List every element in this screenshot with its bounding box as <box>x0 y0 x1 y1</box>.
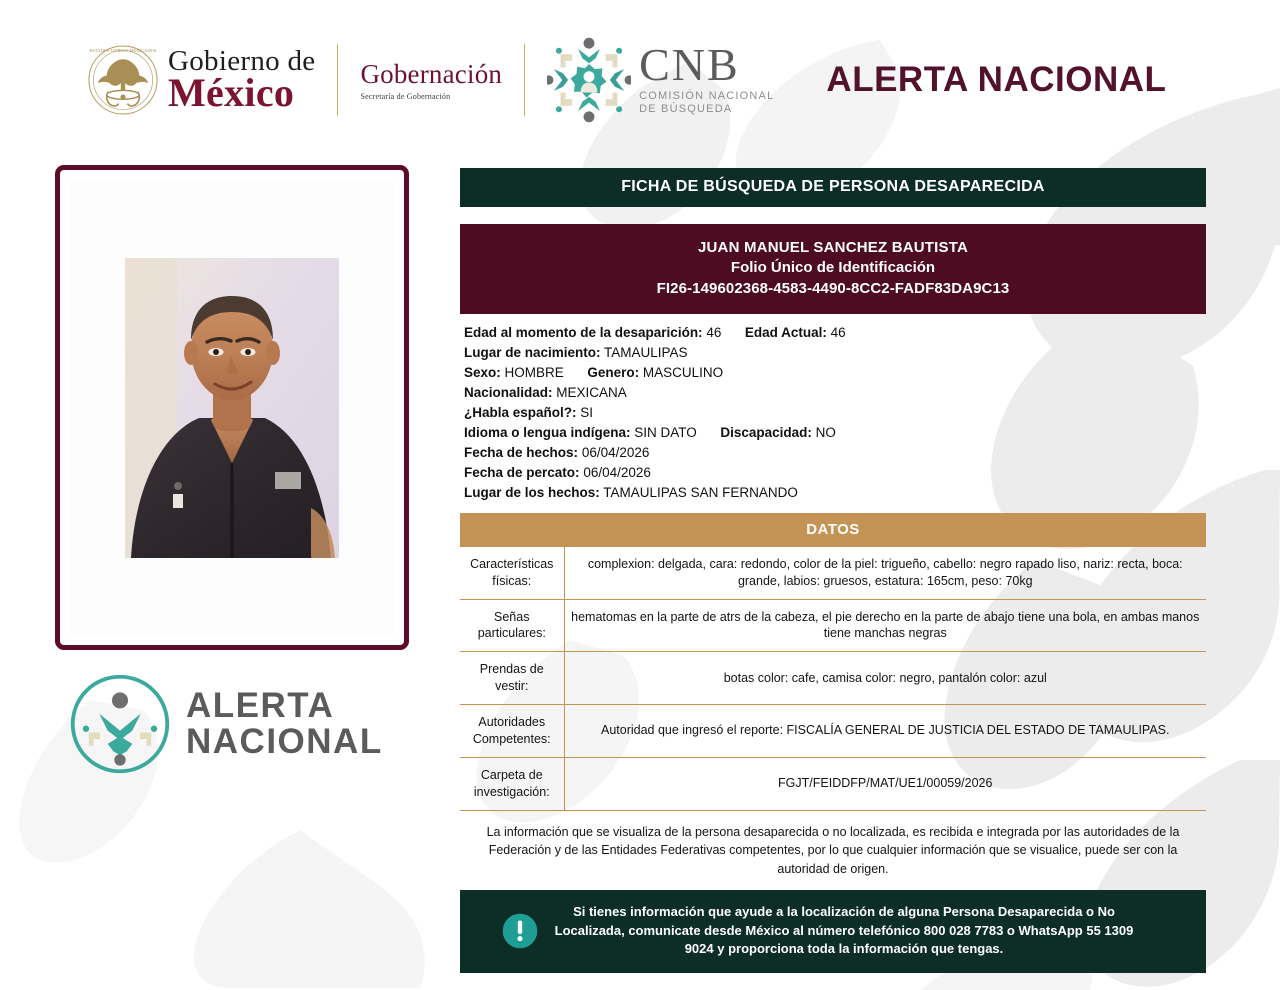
row-value: botas color: cafe, camisa color: negro, … <box>564 652 1206 705</box>
header-divider-2 <box>524 44 525 116</box>
edad-actual-label: Edad Actual: <box>745 325 827 340</box>
svg-text:ESTADOS UNIDOS MEXICANOS: ESTADOS UNIDOS MEXICANOS <box>89 48 156 53</box>
row-value: Autoridad que ingresó el reporte: FISCAL… <box>564 705 1206 758</box>
field-habla-espanol: ¿Habla español?: SI <box>464 403 1206 423</box>
lugar-hechos-value: TAMAULIPAS SAN FERNANDO <box>603 485 798 500</box>
alerta-nacional-emblem-icon <box>68 672 172 776</box>
person-identity-block: JUAN MANUEL SANCHEZ BAUTISTA Folio Único… <box>460 224 1206 314</box>
field-edad: Edad al momento de la desaparición: 46 E… <box>464 323 1206 343</box>
contact-message: Si tienes información que ayude a la loc… <box>550 903 1184 960</box>
edad-actual-value: 46 <box>831 325 846 340</box>
nacionalidad-label: Nacionalidad: <box>464 385 553 400</box>
habla-espanol-value: SI <box>580 405 593 420</box>
ficha-page: ESTADOS UNIDOS MEXICANOS Gobierno de Méx… <box>0 0 1280 990</box>
edad-desaparicion-label: Edad al momento de la desaparición: <box>464 325 703 340</box>
fecha-hechos-label: Fecha de hechos: <box>464 445 578 460</box>
table-row: Señas particulares: hematomas en la part… <box>460 599 1206 652</box>
fecha-percato-value: 06/04/2026 <box>583 465 651 480</box>
fecha-percato-label: Fecha de percato: <box>464 465 580 480</box>
datos-section-title: DATOS <box>460 513 1206 547</box>
lugar-nacimiento-value: TAMAULIPAS <box>604 345 688 360</box>
genero-value: MASCULINO <box>643 365 723 380</box>
mexico-label: México <box>168 73 315 113</box>
edad-desaparicion-value: 46 <box>706 325 721 340</box>
cnb-emblem-icon <box>547 34 631 126</box>
gobierno-de-mexico-logo: ESTADOS UNIDOS MEXICANOS Gobierno de Méx… <box>86 43 315 117</box>
folio-label: Folio Único de Identificación <box>470 258 1196 278</box>
alerta-nacional-logo: ALERTA NACIONAL <box>68 672 383 776</box>
mexican-national-seal-icon: ESTADOS UNIDOS MEXICANOS <box>86 43 160 117</box>
field-lugar-nacimiento: Lugar de nacimiento: TAMAULIPAS <box>464 343 1206 363</box>
field-idioma-discapacidad: Idioma o lengua indígena: SIN DATO Disca… <box>464 423 1206 443</box>
field-lugar-hechos: Lugar de los hechos: TAMAULIPAS SAN FERN… <box>464 483 1206 503</box>
missing-person-photo <box>125 258 339 558</box>
row-key: Prendas de vestir: <box>460 652 564 705</box>
habla-espanol-label: ¿Habla español?: <box>464 405 577 420</box>
datos-table: Características físicas: complexion: del… <box>460 547 1206 811</box>
alerta-logo-line-1: ALERTA <box>186 688 383 724</box>
contact-banner: Si tienes información que ayude a la loc… <box>460 890 1206 974</box>
table-row: Autoridades Competentes: Autoridad que i… <box>460 705 1206 758</box>
lugar-nacimiento-label: Lugar de nacimiento: <box>464 345 601 360</box>
idioma-label: Idioma o lengua indígena: <box>464 425 631 440</box>
row-key: Carpeta de investigación: <box>460 757 564 810</box>
field-nacionalidad: Nacionalidad: MEXICANA <box>464 383 1206 403</box>
gobernacion-sublabel: Secretaría de Gobernación <box>360 92 502 101</box>
field-fecha-percato: Fecha de percato: 06/04/2026 <box>464 463 1206 483</box>
header-divider-1 <box>337 44 338 116</box>
folio-value: FI26-149602368-4583-4490-8CC2-FADF83DA9C… <box>470 279 1196 299</box>
cnb-acronym: CNB <box>639 43 774 87</box>
sexo-label: Sexo: <box>464 365 501 380</box>
page-header: ESTADOS UNIDOS MEXICANOS Gobierno de Méx… <box>0 0 1280 160</box>
table-row: Características físicas: complexion: del… <box>460 547 1206 599</box>
nacionalidad-value: MEXICANA <box>556 385 627 400</box>
ficha-content: FICHA DE BÚSQUEDA DE PERSONA DESAPARECID… <box>460 168 1206 973</box>
row-value: complexion: delgada, cara: redondo, colo… <box>564 547 1206 599</box>
exclamation-alert-icon <box>500 911 540 951</box>
discapacidad-value: NO <box>816 425 836 440</box>
photo-container <box>69 179 395 636</box>
table-row: Prendas de vestir: botas color: cafe, ca… <box>460 652 1206 705</box>
cnb-sub-line-2: DE BÚSQUEDA <box>639 103 774 117</box>
row-key: Autoridades Competentes: <box>460 705 564 758</box>
row-value: hematomas en la parte de atrs de la cabe… <box>564 599 1206 652</box>
table-row: Carpeta de investigación: FGJT/FEIDDFP/M… <box>460 757 1206 810</box>
field-sexo-genero: Sexo: HOMBRE Genero: MASCULINO <box>464 363 1206 383</box>
genero-label: Genero: <box>587 365 639 380</box>
gobernacion-logo: Gobernación Secretaría de Gobernación <box>360 59 502 101</box>
photo-frame <box>55 165 409 650</box>
fecha-hechos-value: 06/04/2026 <box>582 445 650 460</box>
person-name: JUAN MANUEL SANCHEZ BAUTISTA <box>470 238 1196 258</box>
alerta-logo-line-2: NACIONAL <box>186 724 383 760</box>
field-fecha-hechos: Fecha de hechos: 06/04/2026 <box>464 443 1206 463</box>
row-key: Señas particulares: <box>460 599 564 652</box>
person-fields: Edad al momento de la desaparición: 46 E… <box>460 314 1206 503</box>
idioma-value: SIN DATO <box>634 425 697 440</box>
lugar-hechos-label: Lugar de los hechos: <box>464 485 600 500</box>
alerta-nacional-title: ALERTA NACIONAL <box>826 60 1166 100</box>
row-key: Características físicas: <box>460 547 564 599</box>
disclaimer-text: La información que se visualiza de la pe… <box>460 823 1206 879</box>
discapacidad-label: Discapacidad: <box>720 425 812 440</box>
cnb-sub-line-1: COMISIÓN NACIONAL <box>639 90 774 104</box>
ficha-title-bar: FICHA DE BÚSQUEDA DE PERSONA DESAPARECID… <box>460 168 1206 207</box>
cnb-logo: CNB COMISIÓN NACIONAL DE BÚSQUEDA <box>547 34 774 126</box>
gobernacion-label: Gobernación <box>360 59 502 90</box>
sexo-value: HOMBRE <box>505 365 564 380</box>
row-value: FGJT/FEIDDFP/MAT/UE1/00059/2026 <box>564 757 1206 810</box>
